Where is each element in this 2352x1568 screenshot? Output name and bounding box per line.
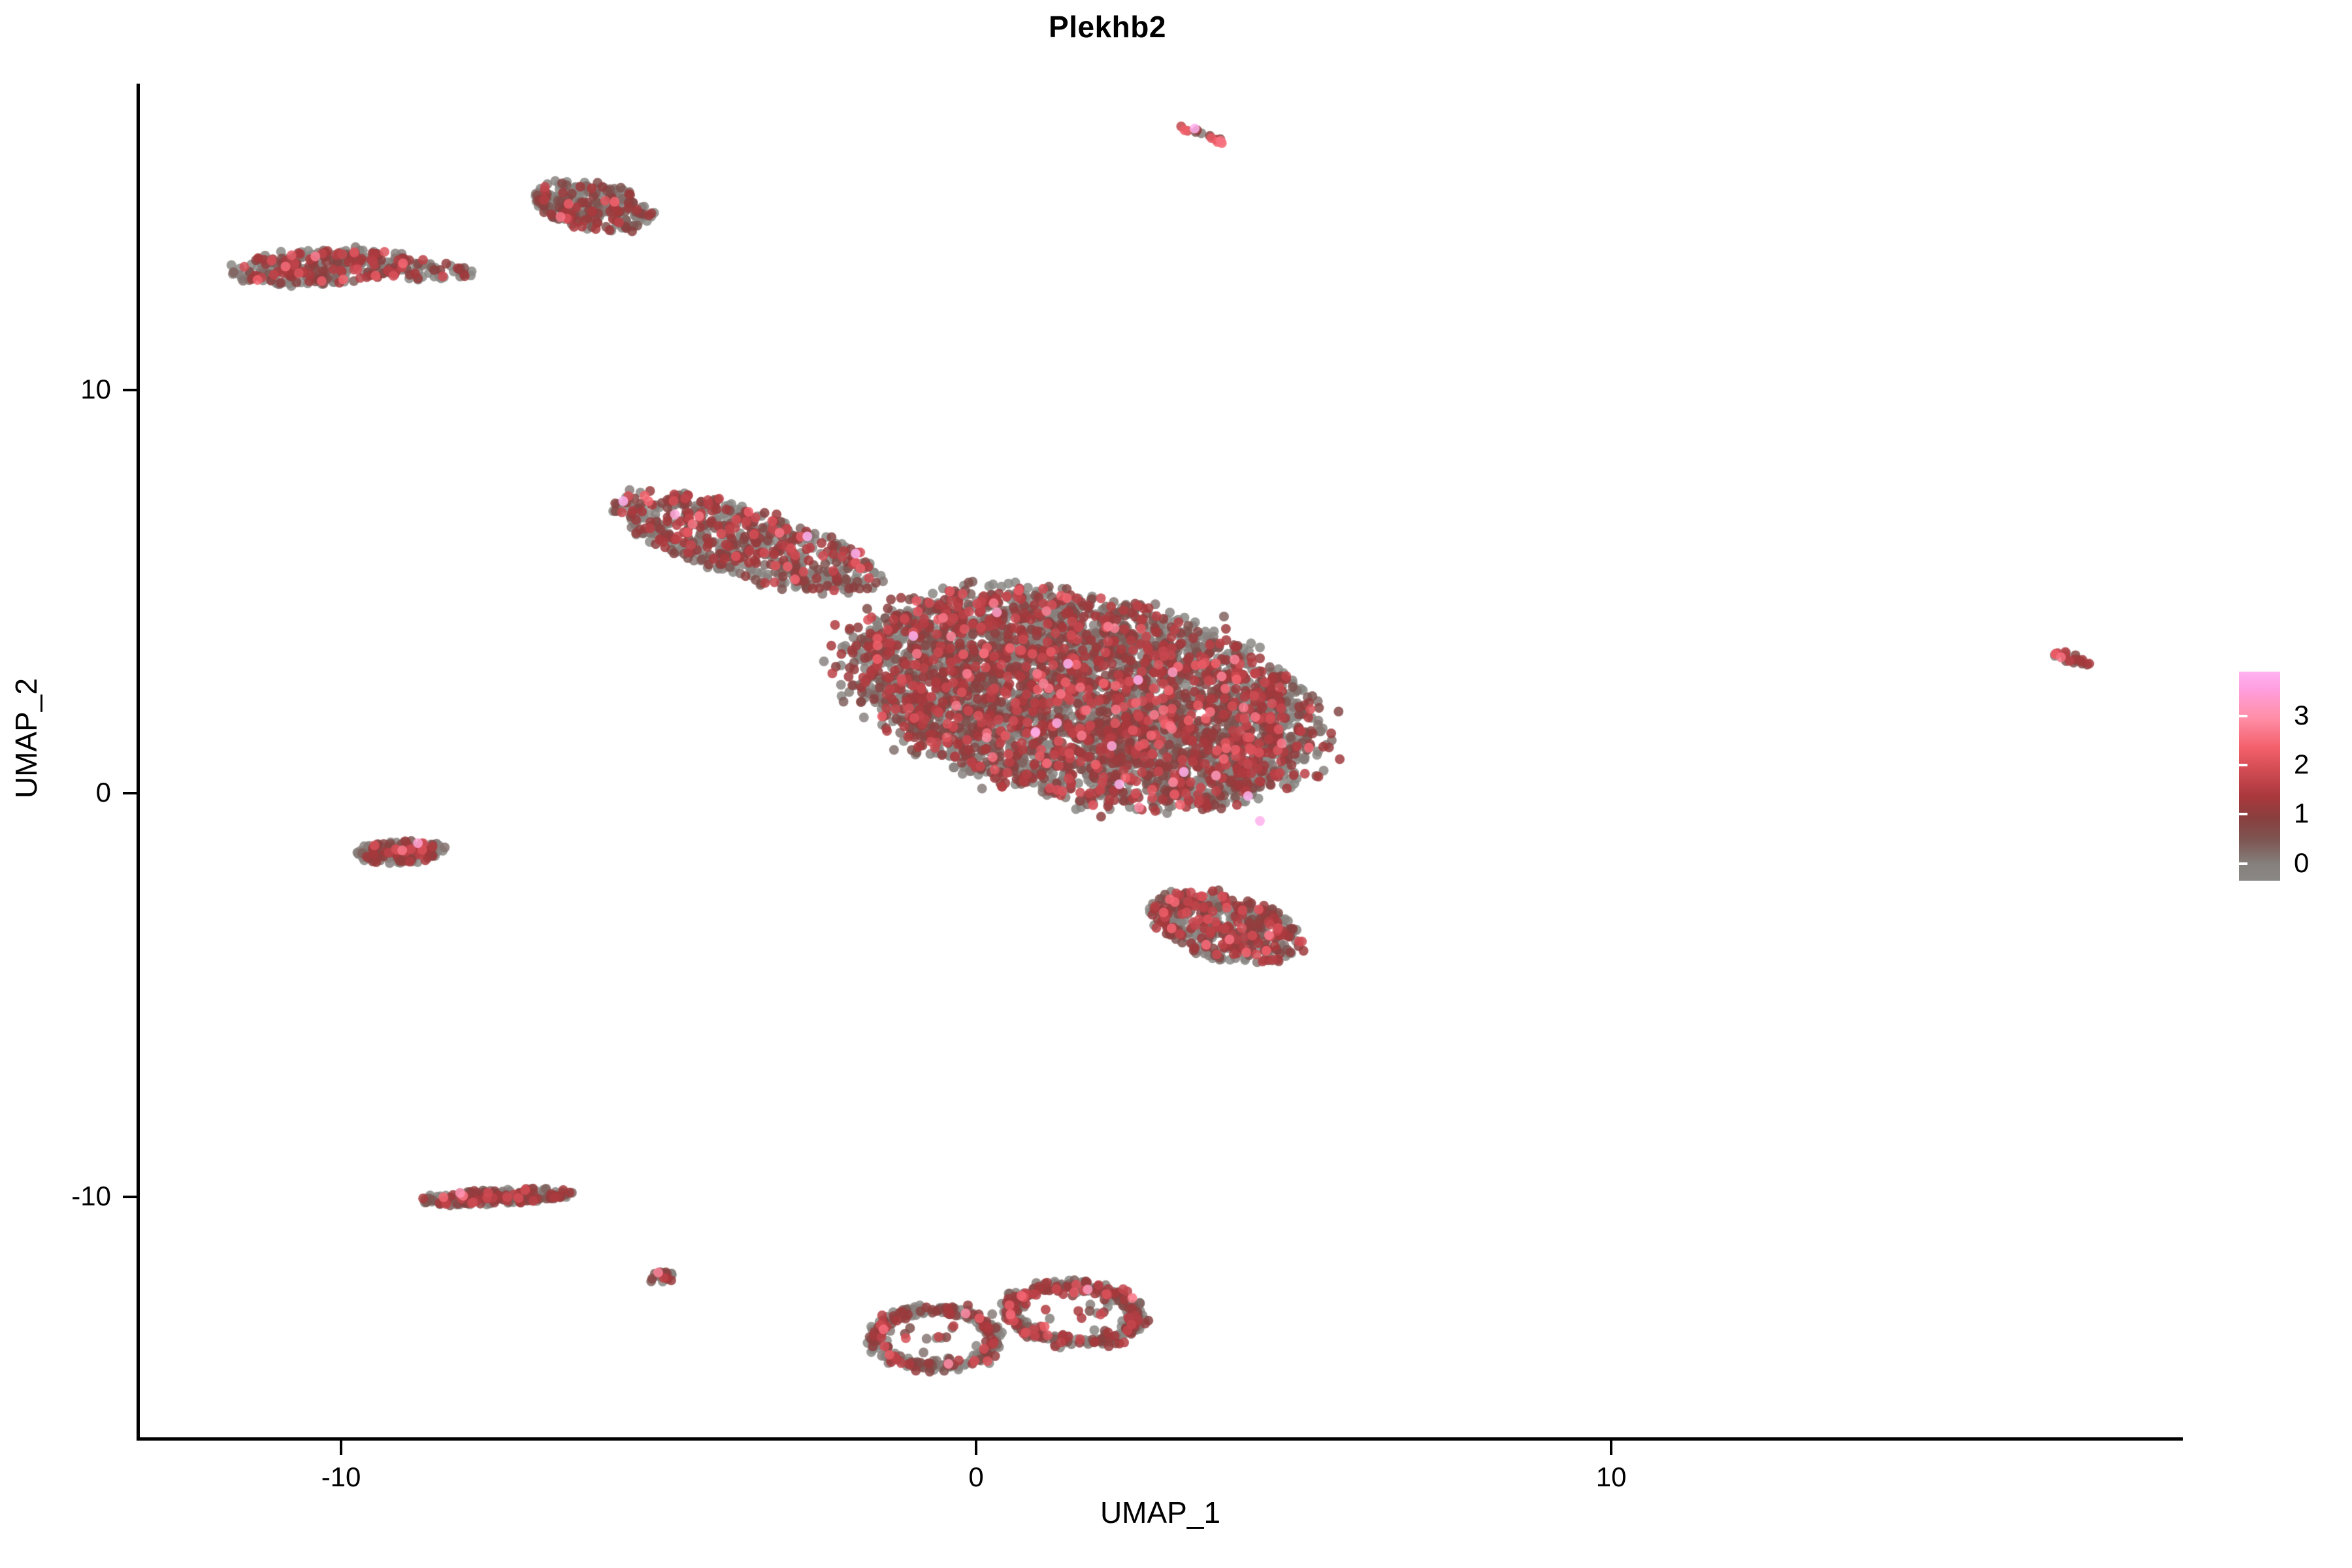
colorbar-tick-mark [2328,862,2337,865]
colorbar-legend: 0123 [2239,672,2337,882]
y-axis-title: UMAP_2 [11,608,41,869]
y-axis-line [137,84,140,1439]
x-tick-label: 10 [1513,1463,1709,1491]
y-tick-mark [123,389,137,391]
colorbar-tick-mark [2239,813,2247,815]
colorbar-tick-label: 0 [2294,849,2309,877]
y-tick-mark [123,1196,137,1198]
y-tick-mark [123,792,137,794]
colorbar-tick-mark [2328,813,2337,815]
colorbar-tick-mark [2328,764,2337,766]
scatter-points-canvas [138,84,2183,1439]
y-tick-label: -10 [0,1183,111,1210]
colorbar-tick-mark [2328,715,2337,717]
colorbar-tick-mark [2239,862,2247,865]
page-title: Plekhb2 [0,12,2215,42]
colorbar-gradient [2239,672,2280,881]
colorbar-tick-mark [2239,715,2247,717]
x-axis-line [137,1437,2183,1441]
x-tick-mark [340,1441,342,1455]
colorbar-tick-label: 2 [2294,751,2309,778]
x-tick-mark [975,1441,977,1455]
x-tick-label: -10 [243,1463,439,1491]
x-tick-label: 0 [878,1463,1074,1491]
x-axis-title: UMAP_1 [138,1497,2183,1527]
x-tick-mark [1610,1441,1612,1455]
umap-feature-plot: Plekhb2 -10010 -10010 UMAP_1 UMAP_2 0123 [0,0,2352,1568]
y-tick-label: 10 [0,376,111,403]
colorbar-tick-label: 3 [2294,702,2309,729]
colorbar-tick-mark [2239,764,2247,766]
colorbar-tick-label: 1 [2294,800,2309,827]
plot-panel [138,84,2183,1439]
